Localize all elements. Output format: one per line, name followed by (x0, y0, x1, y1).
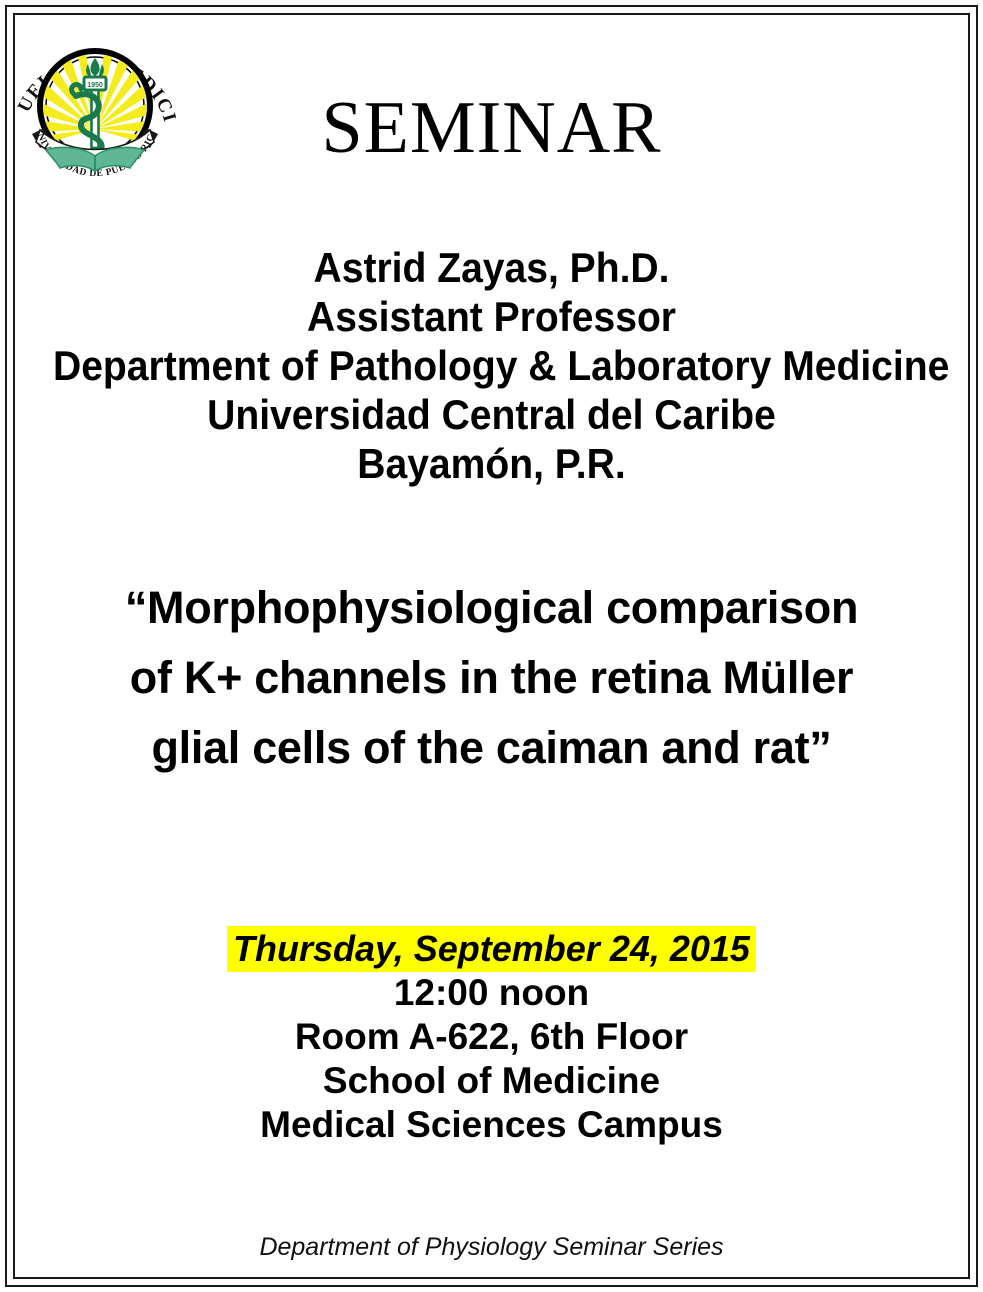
speaker-name: Astrid Zayas, Ph.D. (53, 243, 930, 292)
seminar-series-footer: Department of Physiology Seminar Series (20, 1232, 963, 1262)
event-campus: Medical Sciences Campus (20, 1103, 963, 1147)
event-building: School of Medicine (20, 1059, 963, 1103)
speaker-title: Assistant Professor (53, 292, 930, 341)
event-date-line: Thursday, September 24, 2015 (20, 927, 963, 971)
event-details: Thursday, September 24, 2015 12:00 noon … (20, 927, 963, 1147)
event-time: 12:00 noon (20, 971, 963, 1015)
page-title: SEMINAR (20, 91, 963, 165)
speaker-block: Astrid Zayas, Ph.D. Assistant Professor … (53, 243, 930, 488)
talk-title-line-3: glial cells of the caiman and rat” (20, 713, 963, 783)
talk-title-line-2: of K+ channels in the retina Müller (20, 643, 963, 713)
seminar-poster: ESCUELA DE MEDICINA (0, 0, 983, 1292)
poster-content: SEMINAR Astrid Zayas, Ph.D. Assistant Pr… (20, 0, 963, 1292)
speaker-department: Department of Pathology & Laboratory Med… (53, 341, 930, 390)
talk-title-line-1: “Morphophysiological comparison (20, 573, 963, 643)
event-date: Thursday, September 24, 2015 (227, 926, 756, 972)
talk-title: “Morphophysiological comparison of K+ ch… (20, 573, 963, 783)
speaker-institution: Universidad Central del Caribe (53, 390, 930, 439)
event-room: Room A-622, 6th Floor (20, 1015, 963, 1059)
speaker-location: Bayamón, P.R. (53, 439, 930, 488)
